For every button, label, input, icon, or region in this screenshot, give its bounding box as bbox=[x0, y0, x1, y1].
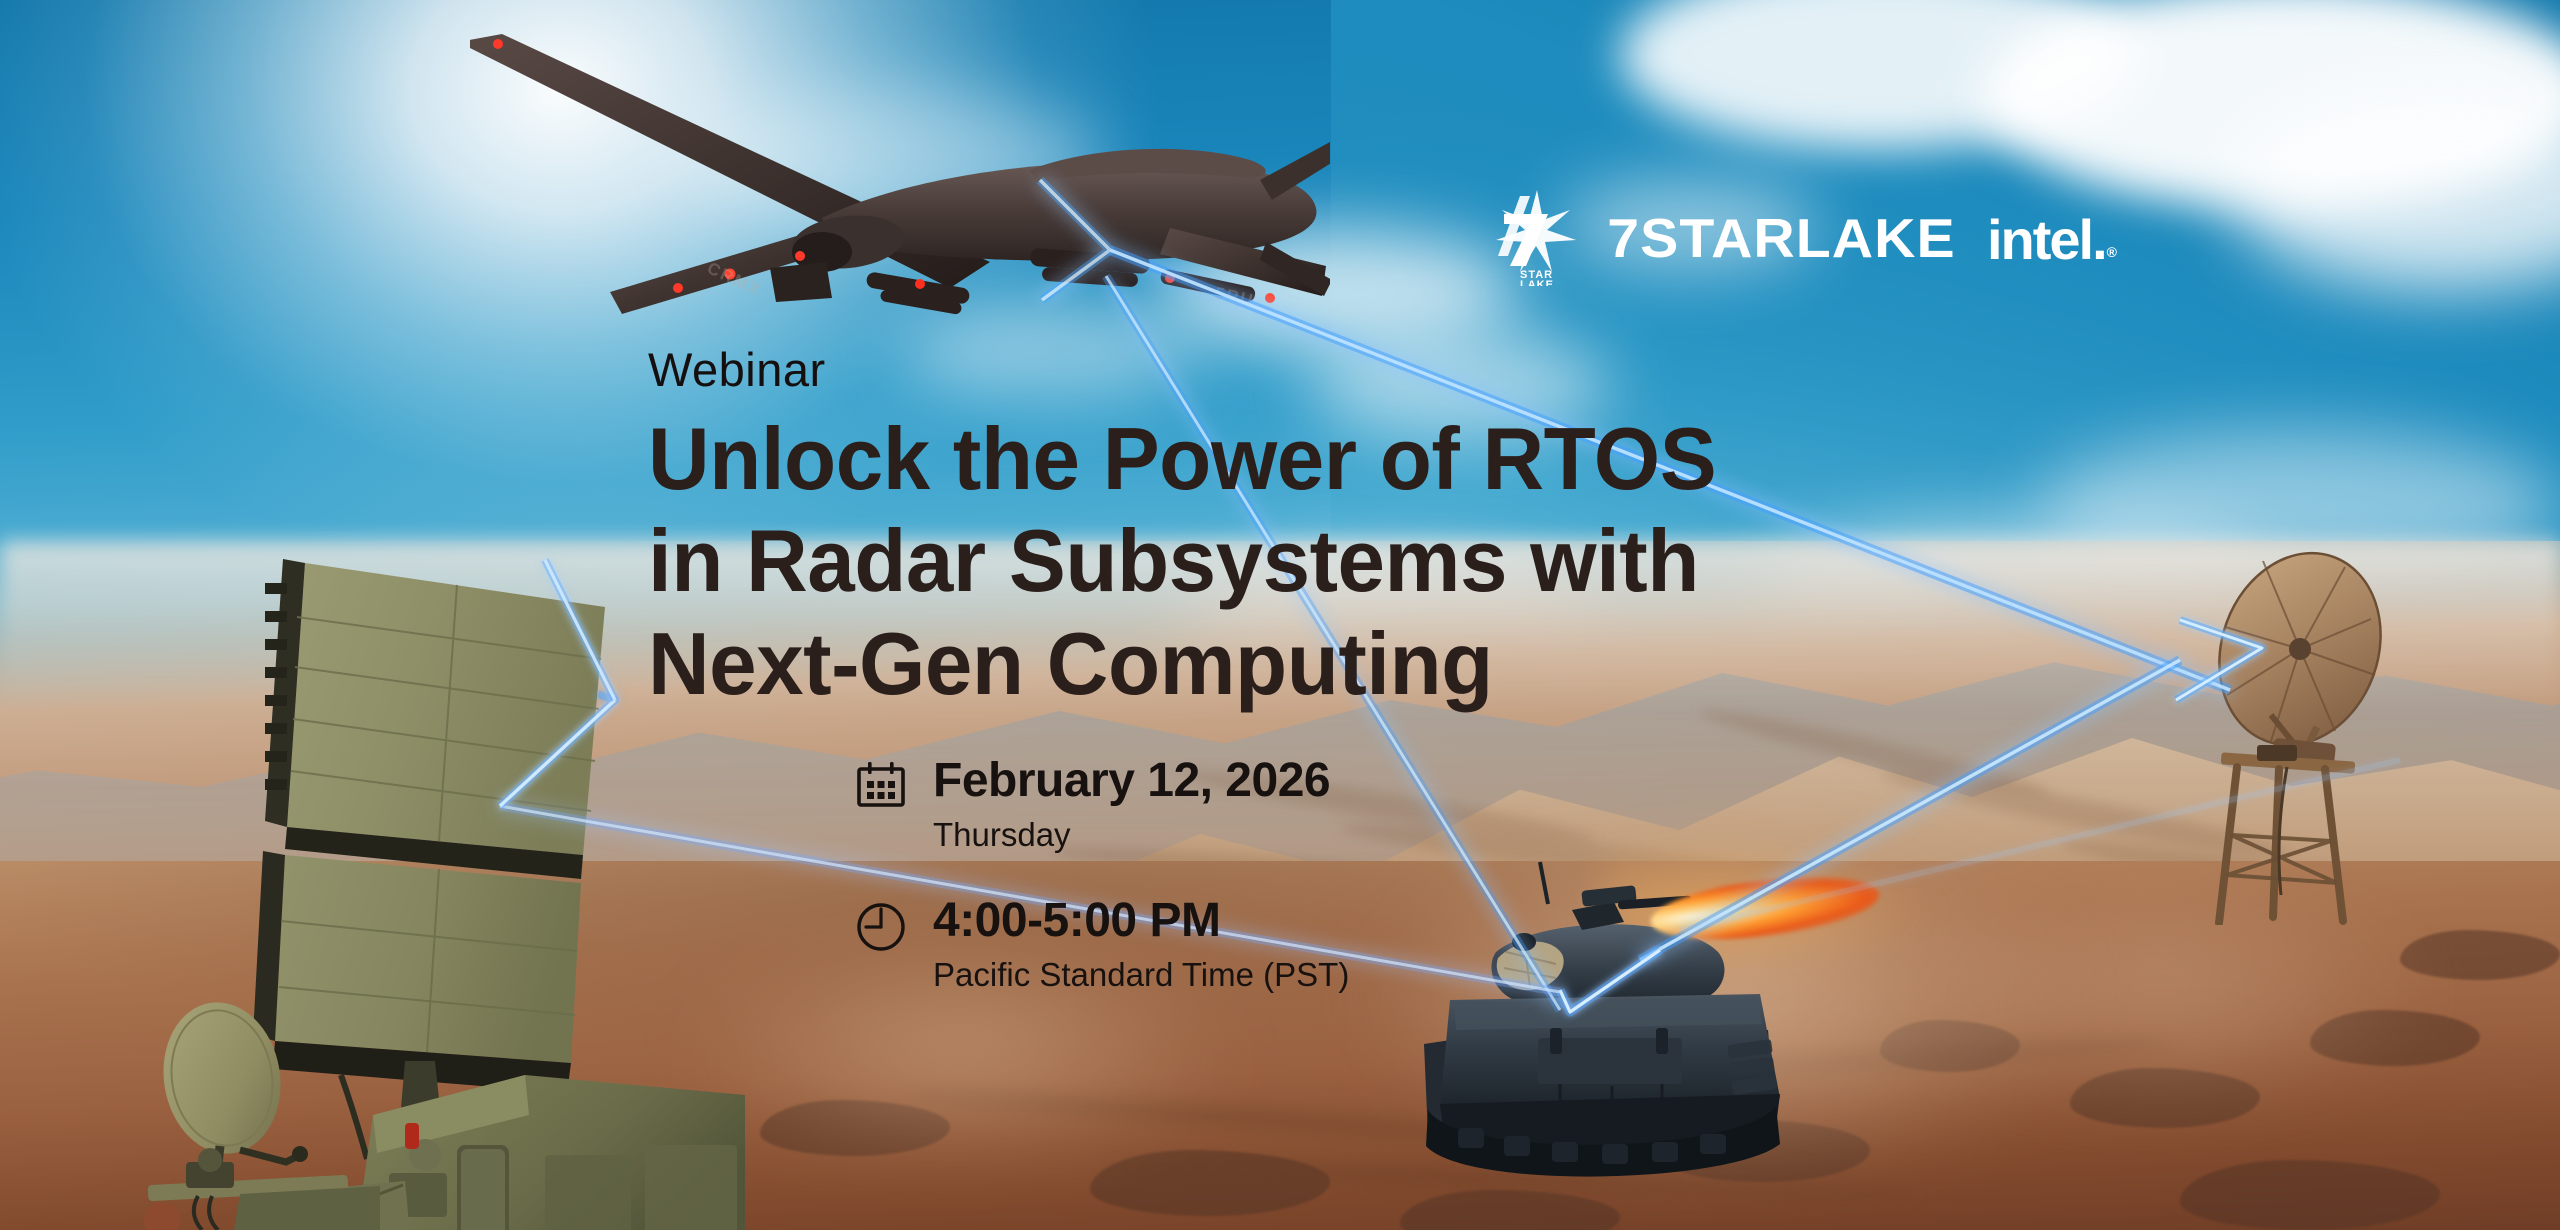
uav-drone: CRMX 5RU bbox=[470, 30, 1330, 350]
headline-block: Webinar Unlock the Power of RTOS in Rada… bbox=[648, 345, 2048, 715]
detail-text-date: February 12, 2026 Thursday bbox=[933, 755, 1330, 855]
clock-icon bbox=[855, 901, 907, 953]
7starlake-wordmark: 7STARLAKE bbox=[1607, 211, 1955, 266]
headline-line-2: in Radar Subsystems with bbox=[648, 510, 2006, 612]
intel-wordmark: intel bbox=[1987, 208, 2092, 271]
event-date: February 12, 2026 bbox=[933, 755, 1330, 808]
headline-line-1: Unlock the Power of RTOS bbox=[648, 408, 2006, 510]
detail-text-time: 4:00-5:00 PM Pacific Standard Time (PST) bbox=[933, 895, 1349, 995]
detail-row-date: February 12, 2026 Thursday bbox=[855, 755, 1349, 855]
event-details: February 12, 2026 Thursday 4:00-5:00 PM … bbox=[855, 755, 1349, 995]
logo-bar: STAR LAKE 7STARLAKE intel.® bbox=[1490, 190, 2114, 286]
webinar-banner: CRMX 5RU bbox=[0, 0, 2560, 1230]
intel-logo: intel.® bbox=[1987, 212, 2114, 268]
event-time: 4:00-5:00 PM bbox=[933, 895, 1349, 948]
page-title: Unlock the Power of RTOS in Radar Subsys… bbox=[648, 408, 2006, 714]
detail-row-time: 4:00-5:00 PM Pacific Standard Time (PST) bbox=[855, 895, 1349, 995]
parabolic-dish-antenna bbox=[2175, 545, 2495, 925]
event-timezone: Pacific Standard Time (PST) bbox=[933, 954, 1349, 995]
intel-trademark: ® bbox=[2107, 244, 2115, 260]
7starlake-star-logo-icon: STAR LAKE bbox=[1490, 190, 1576, 286]
calendar-icon bbox=[855, 761, 907, 813]
intel-dot: . bbox=[2092, 208, 2106, 271]
headline-line-3: Next-Gen Computing bbox=[648, 613, 2006, 715]
logo-sub-lake: LAKE bbox=[1520, 279, 1554, 286]
event-weekday: Thursday bbox=[933, 814, 1330, 855]
ground-dish-antenna bbox=[90, 1000, 380, 1230]
eyebrow-label: Webinar bbox=[648, 345, 2048, 394]
